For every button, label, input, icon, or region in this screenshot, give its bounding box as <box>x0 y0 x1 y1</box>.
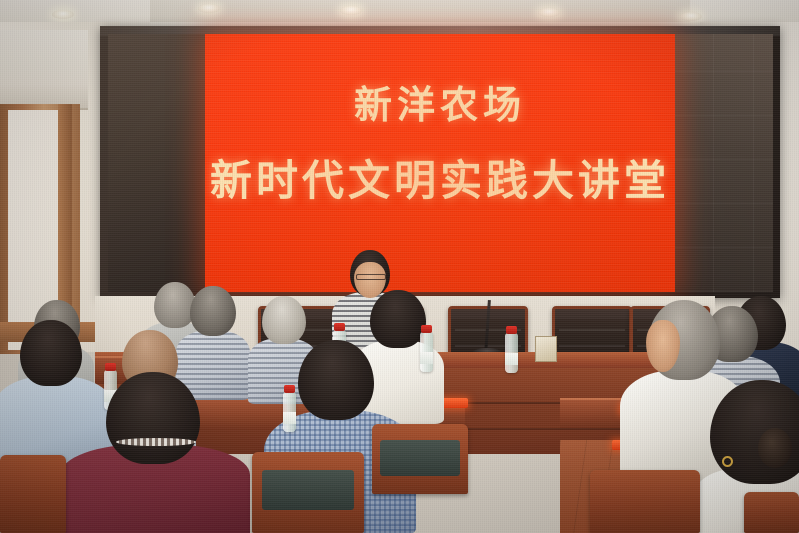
bottle-label <box>505 353 518 365</box>
head <box>190 286 236 336</box>
downlight-2 <box>198 4 220 13</box>
presenter-glasses <box>356 274 386 280</box>
head <box>262 296 306 344</box>
hair-bun <box>758 428 792 468</box>
bottle-label <box>283 412 296 424</box>
gold-earring <box>722 456 733 467</box>
water-bottle-5 <box>505 333 518 373</box>
bottle-label <box>420 352 433 364</box>
screen-title-line-1: 新洋农场 <box>354 86 526 124</box>
bottle-cap <box>105 363 116 371</box>
bottle-cap <box>421 325 432 333</box>
attendee-maroon-polo <box>60 372 250 533</box>
screen-title-line-2: 新时代文明实践大讲堂 <box>210 160 670 202</box>
window-shade <box>0 30 88 110</box>
conference-room-photo: 新洋农场 新时代文明实践大讲堂 <box>0 0 799 533</box>
bottle-cap <box>284 385 295 393</box>
led-panel-unlit-left <box>108 34 206 292</box>
led-panel-unlit-right <box>673 34 773 292</box>
head <box>106 372 200 464</box>
bench-far-right <box>744 492 799 533</box>
bottle-cap <box>334 323 345 331</box>
bench-cushion-center-2 <box>380 440 460 476</box>
downlight-1 <box>52 10 74 19</box>
bottle-cap <box>506 326 517 334</box>
polo-collar <box>116 438 196 446</box>
water-bottle-4 <box>420 332 433 372</box>
bench-right <box>590 470 700 533</box>
bench-cushion-center <box>262 470 354 510</box>
downlight-4 <box>538 8 560 17</box>
downlight-3 <box>340 6 362 15</box>
led-screen-content: 新洋农场 新时代文明实践大讲堂 <box>205 34 675 292</box>
head <box>298 340 374 420</box>
ceiling-recess <box>150 0 690 22</box>
bench-back-left <box>0 455 66 533</box>
paper-cup-box <box>535 336 557 362</box>
downlight-5 <box>680 12 702 21</box>
water-bottle-2 <box>283 392 296 432</box>
